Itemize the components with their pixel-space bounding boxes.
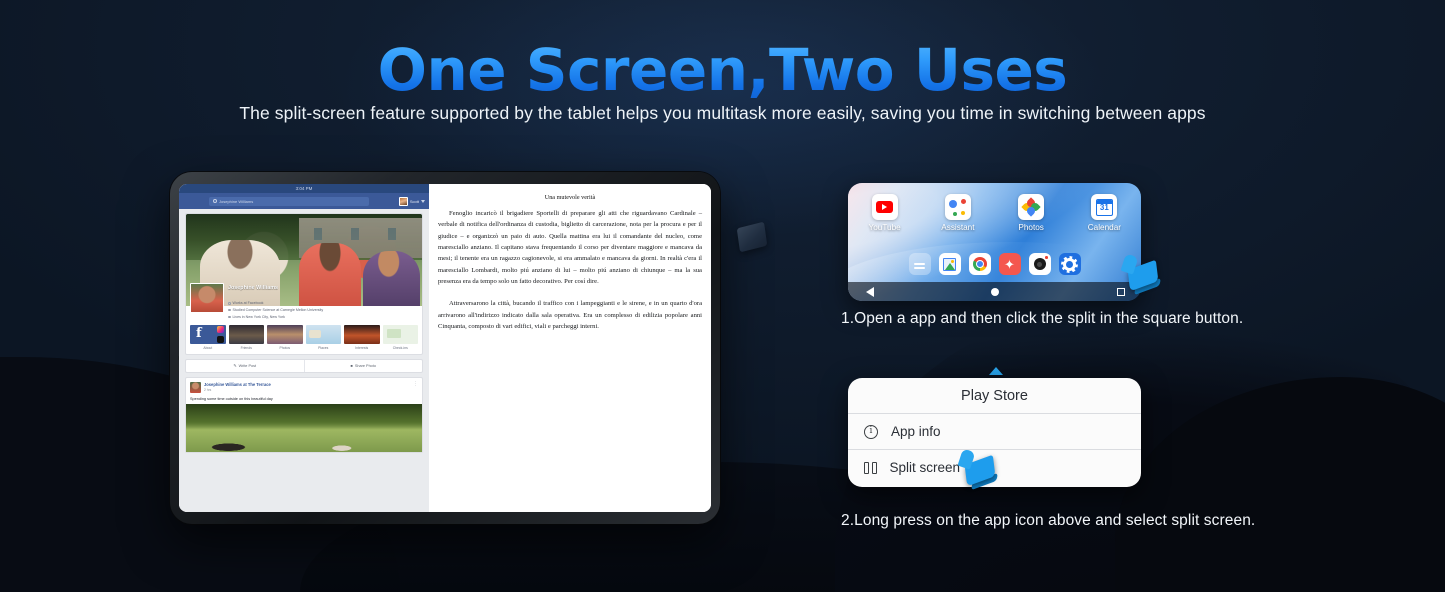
home-icon — [228, 316, 231, 319]
split-screen-icon — [864, 462, 877, 474]
book-heading: Una mutevole verità — [438, 194, 702, 201]
book-paragraph: Fenoglio incaricò il brigadiere Sportell… — [438, 208, 702, 287]
settings-icon[interactable] — [1059, 253, 1081, 275]
feed-post: Josephine Williams at The Terrace 2 hrs … — [185, 377, 423, 453]
account-label: Scott — [410, 199, 419, 204]
home-dock: ✦ — [909, 253, 1081, 275]
profile-tabs: About Friends Photos Places — [186, 322, 422, 354]
tab-places[interactable]: Places — [306, 325, 342, 350]
context-menu-title: Play Store — [848, 378, 1141, 413]
tab-checkins[interactable]: Check-ins — [383, 325, 419, 350]
post-author: Josephine Williams at The Terrace — [204, 382, 271, 387]
page-subtitle: The split-screen feature supported by th… — [0, 103, 1445, 124]
profile-info-item: Works at Facebook — [228, 300, 418, 307]
home-button[interactable] — [991, 288, 999, 296]
book-paragraph: Attraversarono la città, bucando il traf… — [438, 298, 702, 332]
post-image — [186, 404, 422, 452]
map-thumbnail — [306, 325, 342, 344]
step-1-caption: 1.Open a app and then click the split in… — [841, 310, 1243, 328]
share-photo-button[interactable]: ■ Share Photo — [305, 360, 423, 372]
menu-item-label: Split screen — [890, 460, 961, 475]
tab-photos[interactable]: Photos — [267, 325, 303, 350]
graduation-icon — [228, 309, 231, 312]
search-placeholder: Josephine Williams — [219, 199, 253, 204]
app-label: Assistant — [921, 223, 994, 232]
tab-label: Interests — [344, 346, 380, 350]
status-bar-time: 3:04 PM — [179, 184, 429, 193]
profile-info-list: Works at Facebook Studied Computer Scien… — [228, 300, 418, 320]
share-photo-label: Share Photo — [355, 364, 376, 368]
google-photos-icon — [1018, 194, 1044, 220]
home-app-row: YouTube Assistant Photos 31 Calendar — [848, 194, 1141, 232]
app-assistant[interactable]: Assistant — [921, 194, 994, 232]
tab-label: Friends — [229, 346, 265, 350]
split-pane-reader: Una mutevole verità Fenoglio incaricò il… — [429, 184, 711, 512]
facebook-search-input[interactable]: Josephine Williams — [209, 197, 369, 206]
gemini-icon[interactable]: ✦ — [999, 253, 1021, 275]
menu-item-app-info[interactable]: i App info — [848, 413, 1141, 449]
chevron-down-icon — [421, 200, 425, 203]
post-avatar[interactable] — [190, 382, 201, 393]
back-button[interactable] — [866, 287, 874, 297]
tab-interests[interactable]: Interests — [344, 325, 380, 350]
search-icon — [213, 199, 217, 203]
tablet-screen: 3:04 PM Josephine Williams Scott — [179, 184, 711, 512]
account-menu[interactable]: Scott — [399, 197, 425, 206]
briefcase-icon — [228, 302, 231, 305]
app-youtube[interactable]: YouTube — [848, 194, 921, 232]
interests-thumbnail — [344, 325, 380, 344]
android-home-screen: YouTube Assistant Photos 31 Calendar ✦ — [848, 183, 1141, 301]
tab-label: Check-ins — [383, 346, 419, 350]
profile-avatar[interactable] — [190, 283, 224, 313]
cover-window — [314, 228, 322, 240]
instagram-icon — [217, 326, 224, 333]
cover-window — [388, 228, 396, 240]
step-2-caption: 2.Long press on the app icon above and s… — [841, 512, 1255, 530]
app-photos[interactable]: Photos — [995, 194, 1068, 232]
app-icon — [217, 336, 224, 343]
post-timestamp: 2 hrs — [204, 388, 271, 392]
friends-thumbnail — [229, 325, 265, 344]
facebook-icon — [190, 325, 226, 344]
pencil-icon: ✎ — [233, 363, 236, 368]
recents-icon[interactable] — [909, 253, 931, 275]
facebook-content: Josephine Williams Works at Facebook Stu… — [179, 209, 429, 512]
gallery-icon[interactable] — [939, 253, 961, 275]
tab-label: About — [190, 346, 226, 350]
tab-about[interactable]: About — [190, 325, 226, 350]
facebook-top-bar: Josephine Williams Scott — [179, 193, 429, 209]
tab-friends[interactable]: Friends — [229, 325, 265, 350]
camera-icon: ■ — [351, 364, 353, 368]
recents-square-button[interactable] — [1117, 288, 1125, 296]
app-calendar[interactable]: 31 Calendar — [1068, 194, 1141, 232]
calendar-day: 31 — [1096, 199, 1113, 216]
write-post-button[interactable]: ✎ Write Post — [186, 360, 305, 372]
tab-label: Photos — [267, 346, 303, 350]
profile-name: Josephine Williams — [228, 285, 418, 291]
profile-info-item: Lives in New York City, New York — [228, 314, 418, 321]
cover-window — [351, 228, 359, 240]
popup-arrow-icon — [989, 367, 1003, 375]
chrome-icon[interactable] — [969, 253, 991, 275]
app-label: Calendar — [1068, 223, 1141, 232]
post-text: Spending some time outside on this beaut… — [186, 397, 422, 404]
avatar — [399, 197, 408, 206]
post-header: Josephine Williams at The Terrace 2 hrs … — [186, 378, 422, 397]
app-label: YouTube — [848, 223, 921, 232]
profile-card: Josephine Williams Works at Facebook Stu… — [185, 213, 423, 355]
profile-actions: ✎ Write Post ■ Share Photo — [185, 359, 423, 373]
profile-info-item: Studied Computer Science at Carnegie Mel… — [228, 307, 418, 314]
google-calendar-icon: 31 — [1091, 194, 1117, 220]
checkins-map-thumbnail — [383, 325, 419, 344]
info-icon: i — [864, 425, 878, 439]
app-label: Photos — [995, 223, 1068, 232]
navigation-bar — [848, 282, 1141, 301]
tab-label: Places — [306, 346, 342, 350]
profile-header-row: Josephine Williams Works at Facebook Stu… — [186, 280, 422, 322]
menu-item-label: App info — [891, 424, 941, 439]
tablet-device: 3:04 PM Josephine Williams Scott — [170, 172, 720, 524]
google-assistant-icon — [945, 194, 971, 220]
page-title: One Screen,Two Uses — [0, 36, 1445, 104]
youtube-icon — [872, 194, 898, 220]
post-menu-icon[interactable]: ⋮ — [413, 382, 418, 387]
write-post-label: Write Post — [239, 364, 256, 368]
photos-thumbnail — [267, 325, 303, 344]
post-image-trees — [186, 404, 422, 430]
camera-icon[interactable] — [1029, 253, 1051, 275]
split-pane-facebook: 3:04 PM Josephine Williams Scott — [179, 184, 429, 512]
